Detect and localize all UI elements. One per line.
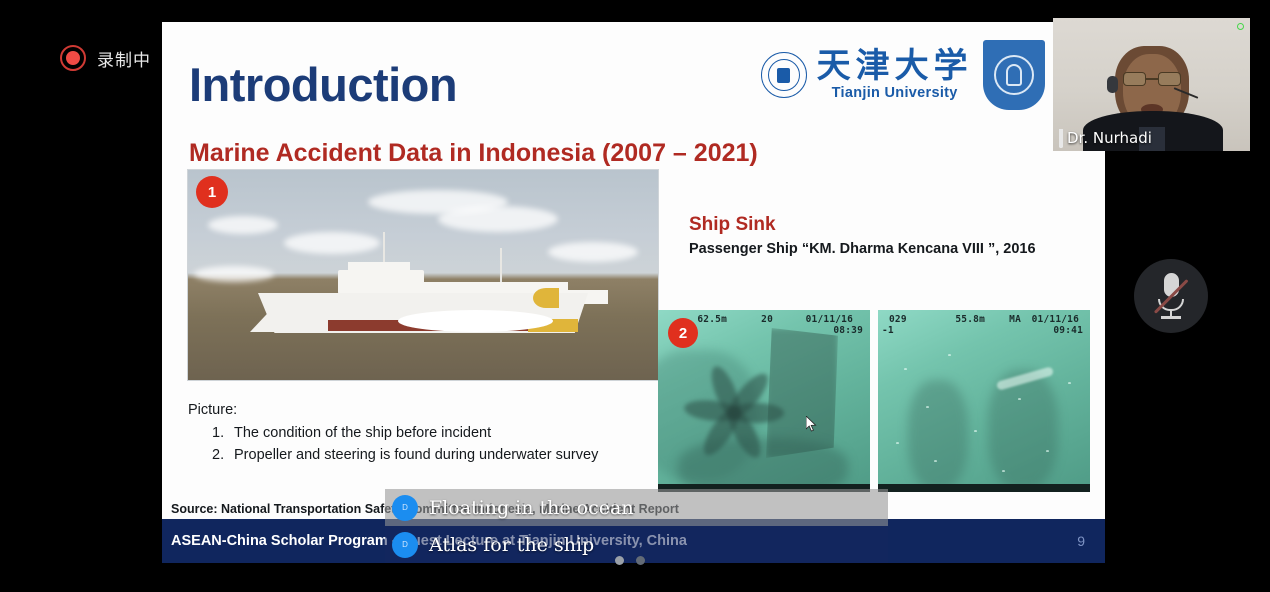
- caption-text: Floating in the ocean: [429, 497, 634, 519]
- participant-name-badge: Dr. Nurhadi: [1059, 129, 1152, 147]
- glasses-icon: [1123, 72, 1181, 87]
- list-text: The condition of the ship before inciden…: [234, 425, 491, 441]
- avatar: D: [392, 532, 418, 558]
- recording-label: 录制中: [97, 46, 151, 71]
- avatar: D: [392, 495, 418, 521]
- underwater-image-left: 62.5m 20 01/11/16 08:39 2: [658, 310, 870, 492]
- osd-time: 08:39: [833, 325, 863, 336]
- osd-time: 09:41: [1053, 325, 1083, 336]
- mouse-cursor-icon: [806, 416, 817, 432]
- caption-row[interactable]: D Floating in the ocean: [385, 489, 888, 526]
- slide-subtitle: Marine Accident Data in Indonesia (2007 …: [189, 139, 758, 168]
- osd-date: 01/11/16: [1021, 314, 1079, 325]
- picture-list-header: Picture:: [188, 402, 237, 418]
- its-shield-icon: [983, 40, 1045, 110]
- ship-photo: 1: [187, 169, 659, 381]
- tianjin-logo-chinese: 天津大学: [817, 49, 973, 85]
- record-dot-icon: [60, 45, 86, 71]
- caption-pagination-dots[interactable]: [615, 556, 645, 565]
- slide-page-number: 9: [1077, 533, 1085, 549]
- list-number: 2.: [212, 447, 234, 463]
- tianjin-logo-english: Tianjin University: [832, 85, 958, 101]
- picture-list-item: 2.Propeller and steering is found during…: [212, 447, 598, 463]
- recording-indicator: 录制中: [60, 45, 151, 71]
- participant-name: Dr. Nurhadi: [1067, 129, 1152, 147]
- participant-video-tile[interactable]: Dr. Nurhadi: [1053, 18, 1250, 151]
- annotation-caption-overlay[interactable]: D Floating in the ocean D Atlas for the …: [385, 489, 888, 563]
- pagination-dot-1[interactable]: [615, 556, 624, 565]
- ship-sink-heading: Ship Sink: [689, 214, 776, 236]
- osd-depth: 55.8m: [927, 314, 985, 325]
- screen: 录制中 Introduction Marine Accident Data in…: [0, 0, 1270, 592]
- osd-date: 01/11/16: [773, 314, 853, 325]
- tianjin-university-seal-icon: [761, 52, 807, 98]
- ship-sink-caption: Passenger Ship “KM. Dharma Kencana VIII …: [689, 241, 1036, 257]
- list-text: Propeller and steering is found during u…: [234, 447, 598, 463]
- active-speaker-indicator-icon: [1237, 23, 1244, 30]
- pagination-dot-2[interactable]: [636, 556, 645, 565]
- underwater-right-osd: 029 55.8m MA 01/11/16 -1 09:41: [878, 314, 1090, 336]
- underwater-image-right: 029 55.8m MA 01/11/16 -1 09:41: [878, 310, 1090, 492]
- picture-list-item: 1.The condition of the ship before incid…: [212, 425, 491, 441]
- osd-mode: MA: [985, 314, 1021, 325]
- presentation-slide[interactable]: Introduction Marine Accident Data in Ind…: [162, 22, 1105, 563]
- microphone-icon: [1059, 129, 1063, 147]
- underwater-badge: 2: [668, 318, 698, 348]
- osd-code: 029: [885, 314, 927, 325]
- logo-group: 天津大学 Tianjin University iTS Institut Tek…: [761, 40, 1090, 110]
- microphone-muted-icon[interactable]: [1134, 259, 1208, 333]
- osd-heading: 20: [727, 314, 773, 325]
- ship-photo-badge: 1: [196, 176, 228, 208]
- list-number: 1.: [212, 425, 234, 441]
- slide-title: Introduction: [189, 57, 457, 112]
- tianjin-university-logo: 天津大学 Tianjin University: [817, 49, 973, 101]
- caption-text: Atlas for the ship: [429, 534, 594, 556]
